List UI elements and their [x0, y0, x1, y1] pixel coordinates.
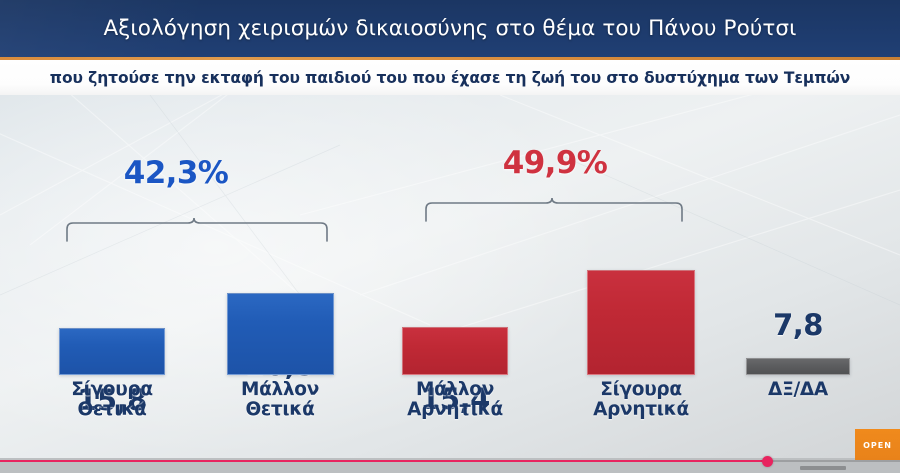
volume-slider[interactable]	[800, 466, 846, 470]
bar-dx-da[interactable]	[746, 358, 850, 375]
bars-plot: 42,3% 49,9% 15,8 Σίγουρα Θετικά 26,5 Μάλ…	[0, 95, 900, 458]
category-label-dx-da: ΔΞ/ΔΑ	[728, 380, 868, 400]
category-label-sigoura-arnitika: Σίγουρα Αρνητικά	[571, 380, 711, 420]
bar-sigoura-thetika[interactable]	[59, 328, 165, 375]
category-label-line2: Αρνητικά	[385, 400, 525, 420]
bar-mallon-thetika[interactable]	[227, 293, 334, 375]
category-label-mallon-thetika: Μάλλον Θετικά	[210, 380, 350, 420]
category-label-line1: Σίγουρα	[42, 380, 182, 400]
category-label-line2: Θετικά	[210, 400, 350, 420]
chart-area: 42,3% 49,9% 15,8 Σίγουρα Θετικά 26,5 Μάλ…	[0, 95, 900, 458]
header-band: Αξιολόγηση χειρισμών δικαιοσύνης στο θέμ…	[0, 0, 900, 57]
total-positive-value: 42,3%	[96, 155, 256, 191]
total-negative-value: 49,9%	[475, 145, 635, 181]
category-label-line1: Μάλλον	[210, 380, 350, 400]
category-label-line2: Θετικά	[42, 400, 182, 420]
open-logo: OPEN	[855, 429, 900, 461]
category-label-line1: Σίγουρα	[571, 380, 711, 400]
category-label-line2: Αρνητικά	[571, 400, 711, 420]
bar-sigoura-arnitika[interactable]	[587, 270, 695, 375]
page-subtitle: που ζητούσε την εκταφή του παιδιού του π…	[50, 69, 850, 87]
video-progress-filled	[0, 460, 768, 462]
category-label-mallon-arnitika: Μάλλον Αρνητικά	[385, 380, 525, 420]
page-title: Αξιολόγηση χειρισμών δικαιοσύνης στο θέμ…	[0, 0, 900, 57]
video-progress-handle[interactable]	[762, 456, 773, 467]
category-label-line1: ΔΞ/ΔΑ	[728, 380, 868, 400]
subtitle-band: που ζητούσε την εκταφή του παιδιού του π…	[0, 60, 900, 95]
bracket-positive	[60, 217, 340, 243]
bar-mallon-arnitika[interactable]	[402, 327, 508, 375]
category-label-sigoura-thetika: Σίγουρα Θετικά	[42, 380, 182, 420]
bracket-negative	[420, 197, 695, 223]
bar-value-dx-da: 7,8	[748, 308, 848, 342]
category-label-line1: Μάλλον	[385, 380, 525, 400]
